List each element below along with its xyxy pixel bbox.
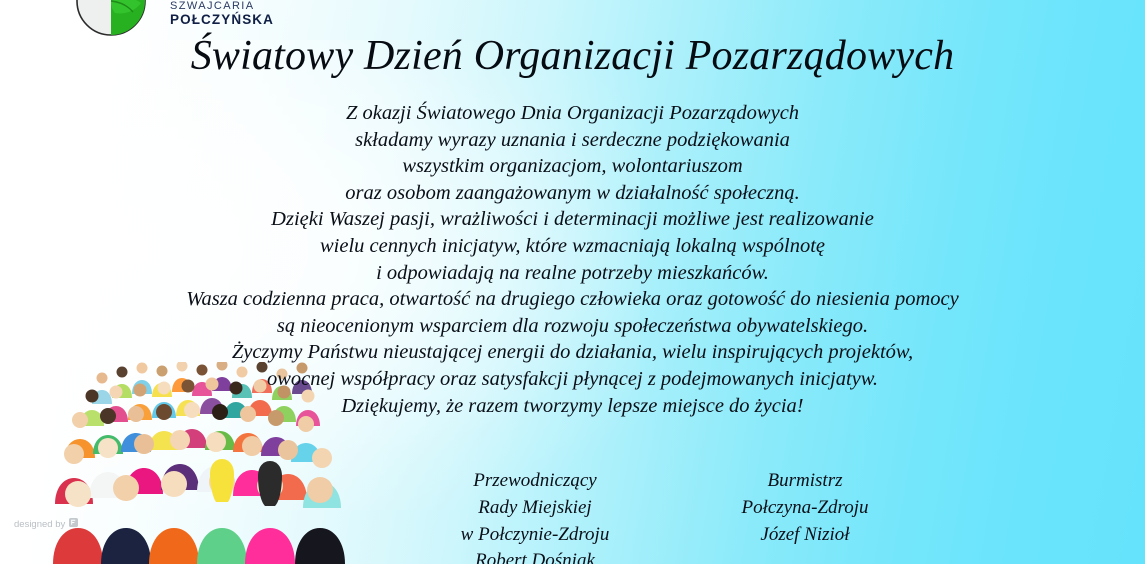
signature-council-chairman: Przewodniczący Rady Miejskiej w Połczyni… [420, 468, 650, 564]
body-line: owocnej współpracy oraz satysfakcji płyn… [0, 366, 1145, 393]
body-line: oraz osobom zaangażowanym w działalność … [0, 180, 1145, 207]
body-line: składamy wyrazy uznania i serdeczne podz… [0, 127, 1145, 154]
logo-line-polczynska: POŁCZYŃSKA [170, 13, 274, 27]
body-line: Wasza codzienna praca, otwartość na drug… [0, 286, 1145, 313]
signature-name: Józef Nizioł [690, 522, 920, 549]
signature-role-line: Przewodniczący [420, 468, 650, 495]
body-line: Życzymy Państwu nieustającej energii do … [0, 339, 1145, 366]
signature-role-line: Burmistrz [690, 468, 920, 495]
signature-name: Robert Dośniak [420, 548, 650, 564]
body-line: Dziękujemy, że razem tworzymy lepsze mie… [0, 393, 1145, 420]
body-line: są nieocenionym wsparciem dla rozwoju sp… [0, 313, 1145, 340]
watermark-label: designed by [14, 519, 65, 530]
signature-role-line: Połczyna-Zdroju [690, 495, 920, 522]
body-line: i odpowiadają na realne potrzeby mieszka… [0, 260, 1145, 287]
body-line: Dzięki Waszej pasji, wrażliwości i deter… [0, 206, 1145, 233]
body-line: wielu cennych inicjatyw, które wzmacniaj… [0, 233, 1145, 260]
freepik-badge-icon [69, 518, 78, 530]
signature-role-line: Rady Miejskiej [420, 495, 650, 522]
signature-role-line: w Połczynie-Zdroju [420, 522, 650, 549]
signature-mayor: Burmistrz Połczyna-Zdroju Józef Nizioł [690, 468, 920, 564]
body-line: Z okazji Światowego Dnia Organizacji Poz… [0, 100, 1145, 127]
body-line: wszystkim organizacjom, wolontariuszom [0, 153, 1145, 180]
greeting-body-text: Z okazji Światowego Dnia Organizacji Poz… [0, 100, 1145, 419]
designed-by-watermark: designed by [14, 518, 78, 530]
page-title: Światowy Dzień Organizacji Pozarządowych [0, 32, 1145, 80]
poster-canvas: SZWAJCARIA POŁCZYŃSKA Światowy Dzień Org… [0, 0, 1145, 564]
signature-block: Przewodniczący Rady Miejskiej w Połczyni… [420, 468, 920, 564]
